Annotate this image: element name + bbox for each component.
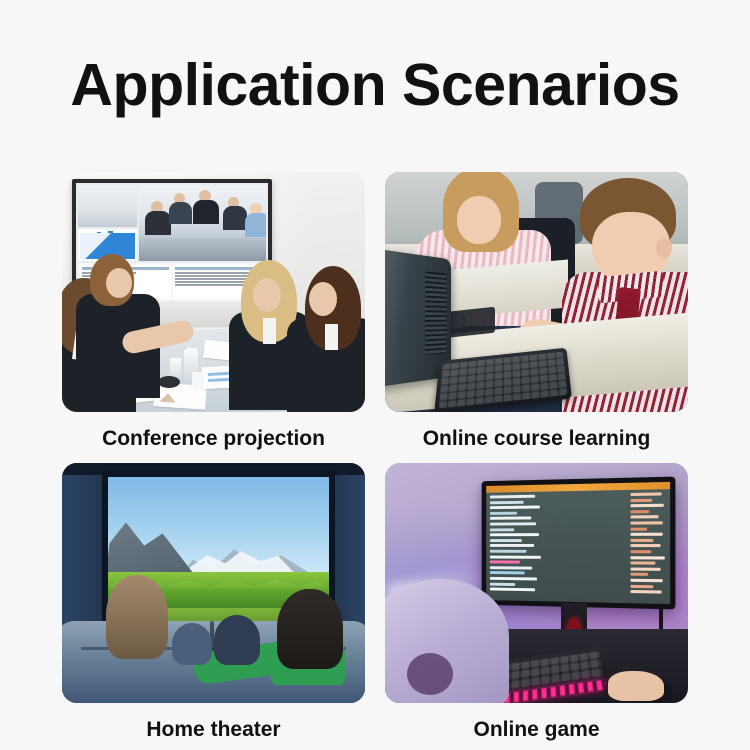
- home-theater-photo: [62, 463, 365, 703]
- hoodie-shoulder-shadow: [407, 653, 453, 695]
- scenario-image-online-course-learning[interactable]: [385, 172, 688, 412]
- coffee-cup: [192, 372, 204, 390]
- viewer-child-one: [172, 623, 212, 665]
- girl-face: [457, 196, 501, 244]
- attendee-left-back: [76, 254, 156, 404]
- viewer-child-two: [214, 615, 260, 665]
- keyboard-keys: [439, 352, 568, 409]
- scenario-caption-conference-projection: Conference projection: [62, 427, 365, 450]
- scenario-card-online-course-learning[interactable]: Online course learning: [385, 172, 688, 450]
- scenario-image-home-theater[interactable]: [62, 463, 365, 703]
- attendee-face: [253, 278, 281, 312]
- attendee-face: [309, 282, 337, 316]
- attendee-right-brunette: [291, 266, 365, 412]
- attendee-shirt: [263, 318, 276, 344]
- viewer-mother: [106, 575, 168, 659]
- scenario-caption-home-theater: Home theater: [62, 718, 365, 741]
- application-scenarios-page: Application Scenarios: [0, 0, 750, 750]
- table-speaker: [158, 376, 180, 388]
- scenario-card-online-game[interactable]: Online game: [385, 463, 688, 741]
- scenario-caption-online-course-learning: Online course learning: [385, 427, 688, 450]
- scenario-card-home-theater[interactable]: Home theater: [62, 463, 365, 741]
- computer-lab-photo: [385, 172, 688, 412]
- scenario-grid: Conference projection: [62, 172, 688, 692]
- attendee-shirt: [325, 324, 338, 350]
- attendee-face: [106, 268, 132, 298]
- gamer-hand: [608, 671, 664, 701]
- scenario-caption-online-game: Online game: [385, 718, 688, 741]
- meeting-attendees: [62, 172, 365, 412]
- page-title: Application Scenarios: [0, 56, 750, 115]
- game-hud-bar: [486, 482, 670, 493]
- viewer-father: [277, 589, 343, 669]
- gaming-monitor: [482, 477, 676, 610]
- scenario-card-conference-projection[interactable]: Conference projection: [62, 172, 365, 450]
- game-screen: [486, 482, 670, 604]
- right-chat-column: [630, 492, 665, 597]
- scenario-image-online-game[interactable]: [385, 463, 688, 703]
- monitor-vent: [425, 271, 446, 355]
- left-chat-column: [490, 495, 543, 596]
- gaming-setup-photo: [385, 463, 688, 703]
- conference-room-photo: [62, 172, 365, 412]
- boy-ear: [656, 238, 672, 258]
- scenario-image-conference-projection[interactable]: [62, 172, 365, 412]
